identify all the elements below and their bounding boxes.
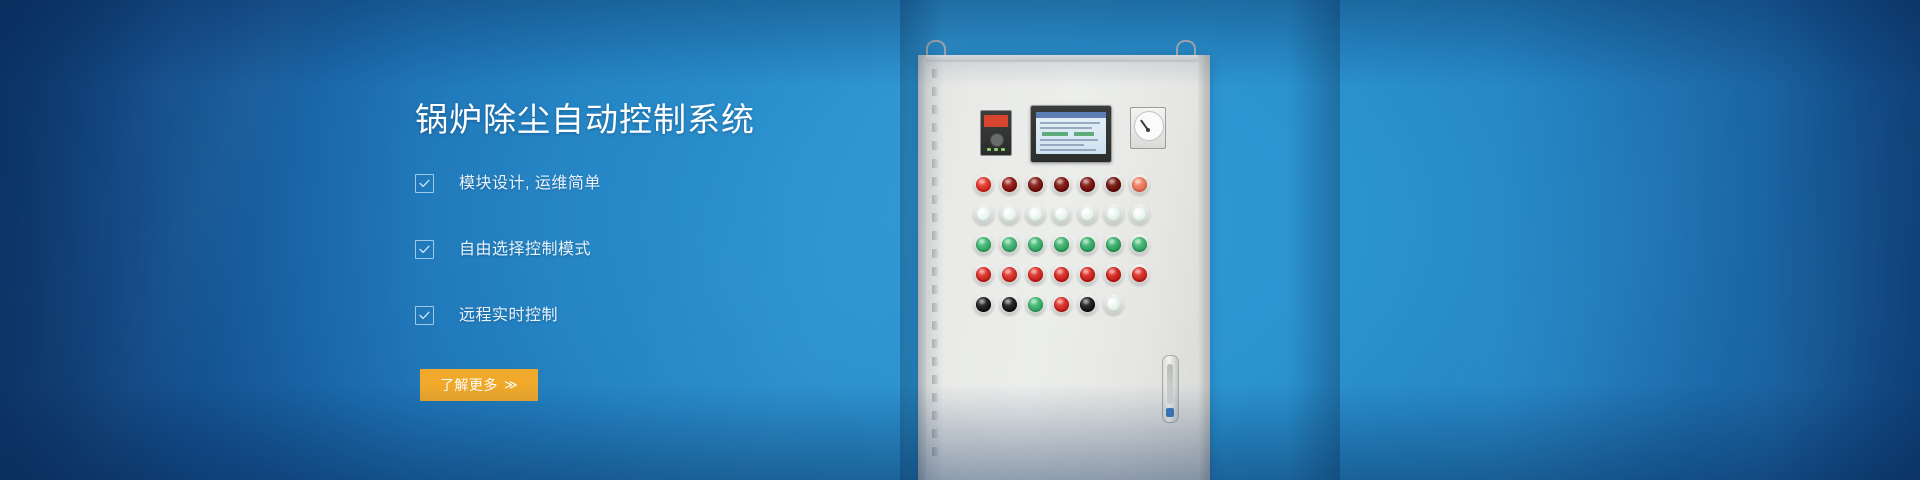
cabinet-right-edge — [1198, 55, 1210, 480]
checkbox-check-icon — [415, 174, 434, 193]
indicator-lamp[interactable] — [1054, 177, 1069, 192]
feature-item-3: 远程实时控制 — [415, 299, 975, 332]
indicator-lamp[interactable] — [1002, 297, 1017, 312]
learn-more-label: 了解更多 — [440, 375, 498, 395]
learn-more-button[interactable]: 了解更多 ≫ — [420, 369, 538, 401]
lamp-cap — [1106, 237, 1121, 252]
lamp-highlight — [1031, 239, 1036, 244]
lamp-highlight — [1031, 209, 1036, 214]
indicator-lamp[interactable] — [1054, 207, 1069, 222]
indicator-lamp[interactable] — [976, 267, 991, 282]
lamp-cap — [1028, 207, 1043, 222]
checkbox-check-icon — [415, 306, 434, 325]
cabinet-hinge — [932, 447, 938, 456]
lamp-highlight — [979, 239, 984, 244]
indicator-lamp[interactable] — [976, 207, 991, 222]
cabinet-hinge — [932, 429, 938, 438]
lamp-highlight — [979, 299, 984, 304]
feature-item-1: 模块设计, 运维简单 — [415, 167, 975, 200]
lamp-highlight — [1135, 239, 1140, 244]
page-title: 锅炉除尘自动控制系统 — [415, 100, 975, 140]
lamp-cap — [1132, 207, 1147, 222]
indicator-lamp[interactable] — [1080, 237, 1095, 252]
lamp-highlight — [1083, 269, 1088, 274]
lamp-cap — [1002, 297, 1017, 312]
feature-item-2: 自由选择控制模式 — [415, 233, 975, 266]
indicator-lamp[interactable] — [1054, 297, 1069, 312]
lamp-cap — [976, 207, 991, 222]
lamp-highlight — [1083, 239, 1088, 244]
lamp-cap — [1054, 267, 1069, 282]
lamp-cap — [1132, 267, 1147, 282]
lamp-cap — [1080, 177, 1095, 192]
lamp-cap — [976, 237, 991, 252]
hmi-touchscreen-icon — [1030, 105, 1112, 163]
lamp-highlight — [979, 269, 984, 274]
indicator-lamp[interactable] — [1002, 267, 1017, 282]
lamp-cap — [1106, 207, 1121, 222]
door-handle-icon — [1162, 355, 1179, 423]
indicator-lamp[interactable] — [1132, 267, 1147, 282]
feature-list: 模块设计, 运维简单 自由选择控制模式 远程实时控制 — [415, 167, 975, 332]
lamp-cap — [976, 267, 991, 282]
indicator-lamp[interactable] — [1080, 177, 1095, 192]
lamp-cap — [1028, 297, 1043, 312]
lamp-cap — [1054, 297, 1069, 312]
indicator-lamp[interactable] — [1028, 297, 1043, 312]
lamp-highlight — [1005, 179, 1010, 184]
lamp-cap — [976, 297, 991, 312]
lamp-highlight — [1135, 179, 1140, 184]
feature-item-3-label: 远程实时控制 — [459, 307, 558, 325]
indicator-lamp[interactable] — [1106, 207, 1121, 222]
lamp-cap — [1080, 237, 1095, 252]
lamp-cap — [1054, 177, 1069, 192]
lamp-highlight — [1031, 299, 1036, 304]
indicator-lamp[interactable] — [1002, 177, 1017, 192]
indicator-lamp[interactable] — [976, 177, 991, 192]
lamp-cap — [976, 177, 991, 192]
feature-item-1-label: 模块设计, 运维简单 — [459, 175, 601, 193]
lamp-cap — [1106, 297, 1121, 312]
indicator-lamp[interactable] — [1080, 207, 1095, 222]
indicator-lamp[interactable] — [1106, 267, 1121, 282]
lamp-highlight — [1031, 269, 1036, 274]
lamp-cap — [1002, 177, 1017, 192]
lamp-highlight — [979, 179, 984, 184]
lamp-cap — [1080, 297, 1095, 312]
indicator-lamp[interactable] — [1080, 267, 1095, 282]
cabinet-hinge — [932, 87, 938, 96]
lamp-cap — [1080, 207, 1095, 222]
lamp-highlight — [1109, 239, 1114, 244]
indicator-lamp[interactable] — [976, 297, 991, 312]
chevron-double-right-icon: ≫ — [504, 377, 518, 393]
indicator-lamp[interactable] — [1002, 237, 1017, 252]
lamp-highlight — [1109, 209, 1114, 214]
indicator-lamp[interactable] — [1028, 207, 1043, 222]
lamp-cap — [1054, 207, 1069, 222]
indicator-lamp[interactable] — [1106, 237, 1121, 252]
indicator-lamp[interactable] — [1028, 177, 1043, 192]
indicator-lamp[interactable] — [1054, 267, 1069, 282]
lamp-highlight — [1005, 239, 1010, 244]
lamp-cap — [1028, 267, 1043, 282]
lamp-highlight — [1135, 269, 1140, 274]
lamp-cap — [1028, 237, 1043, 252]
indicator-lamp[interactable] — [976, 237, 991, 252]
lamp-highlight — [1109, 179, 1114, 184]
indicator-lamp[interactable] — [1106, 297, 1121, 312]
cabinet-top-edge — [918, 55, 1210, 62]
lamp-cap — [1132, 237, 1147, 252]
lamp-cap — [1054, 237, 1069, 252]
lamp-highlight — [1083, 179, 1088, 184]
indicator-lamp[interactable] — [1080, 297, 1095, 312]
lamp-cap — [1106, 177, 1121, 192]
lamp-cap — [1132, 177, 1147, 192]
lamp-highlight — [1135, 209, 1140, 214]
cabinet-hinge — [932, 69, 938, 78]
checkbox-check-icon — [415, 240, 434, 259]
indicator-lamp[interactable] — [1028, 267, 1043, 282]
lamp-highlight — [1057, 299, 1062, 304]
lamp-cap — [1002, 267, 1017, 282]
indicator-lamp[interactable] — [1028, 237, 1043, 252]
lamp-cap — [1080, 267, 1095, 282]
indicator-lamp[interactable] — [1106, 177, 1121, 192]
lamp-cap — [1002, 237, 1017, 252]
lamp-highlight — [1005, 269, 1010, 274]
analog-gauge-icon — [1130, 107, 1166, 149]
lamp-highlight — [1083, 209, 1088, 214]
lamp-highlight — [1057, 269, 1062, 274]
lamp-highlight — [1109, 269, 1114, 274]
lamp-cap — [1002, 207, 1017, 222]
lamp-highlight — [1031, 179, 1036, 184]
hero-copy: 锅炉除尘自动控制系统 模块设计, 运维简单 自由选择控制模式 — [415, 100, 975, 401]
indicator-lamp[interactable] — [1132, 207, 1147, 222]
indicator-lamp[interactable] — [1002, 207, 1017, 222]
cabinet-hinge — [932, 411, 938, 420]
lamp-highlight — [1109, 299, 1114, 304]
lamp-cap — [1028, 177, 1043, 192]
indicator-lamp[interactable] — [1132, 177, 1147, 192]
lamp-highlight — [979, 209, 984, 214]
lamp-highlight — [1005, 299, 1010, 304]
feature-item-2-label: 自由选择控制模式 — [459, 241, 591, 259]
indicator-lamp[interactable] — [1132, 237, 1147, 252]
lamp-highlight — [1083, 299, 1088, 304]
lamp-highlight — [1057, 179, 1062, 184]
lamp-highlight — [1057, 209, 1062, 214]
lamp-cap — [1106, 267, 1121, 282]
hero-banner: 锅炉除尘自动控制系统 模块设计, 运维简单 自由选择控制模式 — [0, 0, 1920, 480]
lamp-highlight — [1057, 239, 1062, 244]
digital-meter-icon — [980, 110, 1012, 156]
indicator-lamp[interactable] — [1054, 237, 1069, 252]
lamp-highlight — [1005, 209, 1010, 214]
